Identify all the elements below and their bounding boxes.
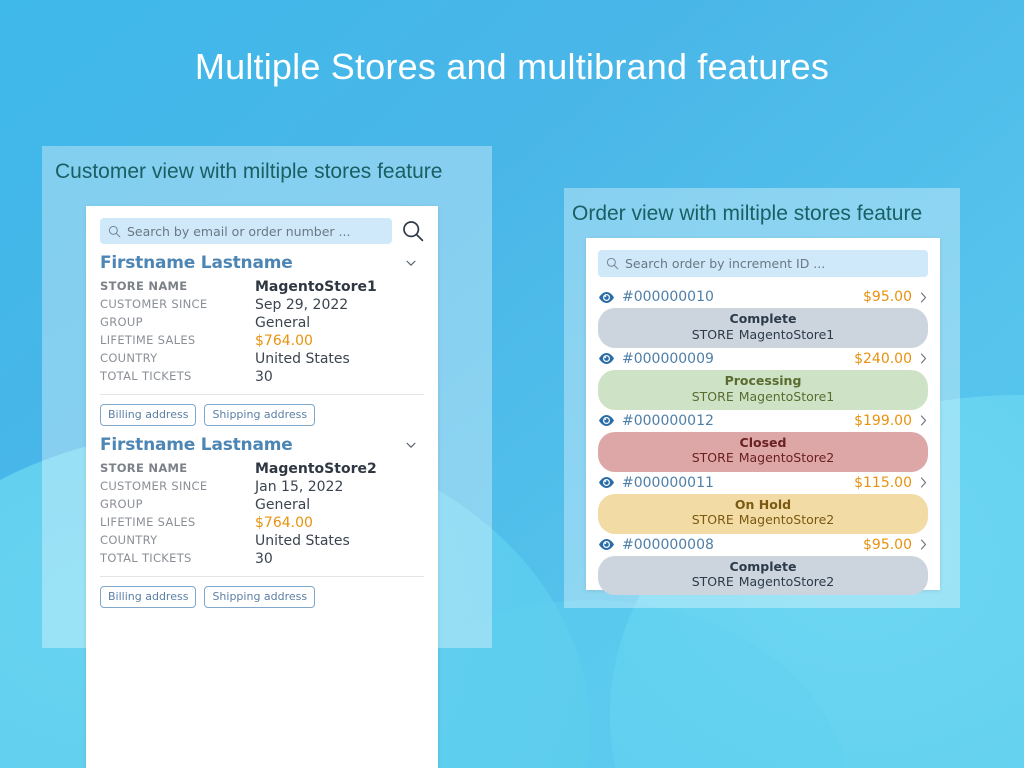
table-row: STORE NAME MagentoStore1 xyxy=(100,278,424,296)
customer-search-row: Search by email or order number ... xyxy=(100,218,424,244)
table-row: CUSTOMER SINCE Sep 29, 2022 xyxy=(100,296,424,314)
table-row: TOTAL TICKETS 30 xyxy=(100,550,424,568)
slide-canvas: Multiple Stores and multibrand features … xyxy=(0,0,1024,768)
divider xyxy=(100,576,424,577)
order-increment-id: #000000010 xyxy=(622,289,863,305)
order-item: #000000012 $199.00 Closed STOREMagentoSt… xyxy=(598,411,928,472)
order-item: #000000008 $95.00 Complete STOREMagentoS… xyxy=(598,535,928,596)
customer-details-table: STORE NAME MagentoStore1 CUSTOMER SINCE … xyxy=(100,278,424,386)
status-label: Complete xyxy=(598,311,928,327)
customer-name: Firstname Lastname xyxy=(100,253,293,273)
label-total-tickets: TOTAL TICKETS xyxy=(100,368,255,386)
label-total-tickets: TOTAL TICKETS xyxy=(100,550,255,568)
order-total: $95.00 xyxy=(863,289,912,305)
table-row: GROUP General xyxy=(100,314,424,332)
table-row: COUNTRY United States xyxy=(100,350,424,368)
status-label: Processing xyxy=(598,373,928,389)
label-country: COUNTRY xyxy=(100,532,255,550)
label-lifetime-sales: LIFETIME SALES xyxy=(100,332,255,350)
eye-icon[interactable] xyxy=(598,538,615,551)
order-item: #000000010 $95.00 Complete STOREMagentoS… xyxy=(598,287,928,348)
search-icon xyxy=(606,257,619,270)
search-icon xyxy=(108,225,121,238)
shipping-address-button[interactable]: Shipping address xyxy=(204,404,315,426)
status-label: Closed xyxy=(598,435,928,451)
table-row: GROUP General xyxy=(100,496,424,514)
order-increment-id: #000000011 xyxy=(622,475,854,491)
status-badge: Processing STOREMagentoStore1 xyxy=(598,370,928,410)
eye-icon[interactable] xyxy=(598,414,615,427)
status-store-line: STOREMagentoStore1 xyxy=(598,327,928,343)
label-store-name: STORE NAME xyxy=(100,278,255,296)
address-button-group: Billing address Shipping address xyxy=(100,586,424,608)
store-label: STORE xyxy=(692,450,734,465)
value-lifetime-sales: $764.00 xyxy=(255,332,424,350)
customer-panel-heading: Customer view with miltiple stores featu… xyxy=(42,146,492,184)
status-badge: Closed STOREMagentoStore2 xyxy=(598,432,928,472)
chevron-right-icon[interactable] xyxy=(919,291,928,304)
store-name: MagentoStore2 xyxy=(739,512,835,527)
store-label: STORE xyxy=(692,574,734,589)
order-search-placeholder: Search order by increment ID ... xyxy=(625,256,825,271)
order-panel-heading: Order view with miltiple stores feature xyxy=(564,188,960,226)
address-button-group: Billing address Shipping address xyxy=(100,404,424,426)
value-customer-since: Sep 29, 2022 xyxy=(255,296,424,314)
order-total: $199.00 xyxy=(854,413,912,429)
order-row[interactable]: #000000009 $240.00 xyxy=(598,349,928,370)
status-store-line: STOREMagentoStore2 xyxy=(598,450,928,466)
value-total-tickets: 30 xyxy=(255,368,424,386)
value-group: General xyxy=(255,496,424,514)
store-name: MagentoStore1 xyxy=(739,327,835,342)
customer-details-table: STORE NAME MagentoStore2 CUSTOMER SINCE … xyxy=(100,460,424,568)
value-country: United States xyxy=(255,532,424,550)
value-group: General xyxy=(255,314,424,332)
order-total: $95.00 xyxy=(863,537,912,553)
order-row[interactable]: #000000012 $199.00 xyxy=(598,411,928,432)
status-badge: On Hold STOREMagentoStore2 xyxy=(598,494,928,534)
value-customer-since: Jan 15, 2022 xyxy=(255,478,424,496)
divider xyxy=(100,394,424,395)
status-store-line: STOREMagentoStore2 xyxy=(598,512,928,528)
customer-header[interactable]: Firstname Lastname xyxy=(100,253,424,273)
customer-header[interactable]: Firstname Lastname xyxy=(100,435,424,455)
order-view-panel: Order view with miltiple stores feature … xyxy=(564,188,960,608)
customer-search-input[interactable]: Search by email or order number ... xyxy=(100,218,392,244)
table-row: CUSTOMER SINCE Jan 15, 2022 xyxy=(100,478,424,496)
store-label: STORE xyxy=(692,512,734,527)
billing-address-button[interactable]: Billing address xyxy=(100,404,196,426)
label-store-name: STORE NAME xyxy=(100,460,255,478)
chevron-down-icon[interactable] xyxy=(404,256,418,270)
status-store-line: STOREMagentoStore1 xyxy=(598,389,928,405)
label-customer-since: CUSTOMER SINCE xyxy=(100,478,255,496)
order-row[interactable]: #000000010 $95.00 xyxy=(598,287,928,308)
eye-icon[interactable] xyxy=(598,352,615,365)
chevron-right-icon[interactable] xyxy=(919,414,928,427)
table-row: STORE NAME MagentoStore2 xyxy=(100,460,424,478)
customer-card: Search by email or order number ... Firs… xyxy=(86,206,438,768)
table-row: TOTAL TICKETS 30 xyxy=(100,368,424,386)
order-row[interactable]: #000000008 $95.00 xyxy=(598,535,928,556)
chevron-right-icon[interactable] xyxy=(919,538,928,551)
status-label: On Hold xyxy=(598,497,928,513)
label-country: COUNTRY xyxy=(100,350,255,368)
order-item: #000000011 $115.00 On Hold STOREMagentoS… xyxy=(598,473,928,534)
order-search-input[interactable]: Search order by increment ID ... xyxy=(598,250,928,277)
label-group: GROUP xyxy=(100,496,255,514)
value-store-name: MagentoStore2 xyxy=(255,460,424,478)
table-row: LIFETIME SALES $764.00 xyxy=(100,332,424,350)
store-name: MagentoStore2 xyxy=(739,574,835,589)
chevron-right-icon[interactable] xyxy=(919,476,928,489)
order-item: #000000009 $240.00 Processing STOREMagen… xyxy=(598,349,928,410)
order-total: $240.00 xyxy=(854,351,912,367)
value-lifetime-sales: $764.00 xyxy=(255,514,424,532)
order-total: $115.00 xyxy=(854,475,912,491)
customer-name: Firstname Lastname xyxy=(100,435,293,455)
customer-block: Firstname Lastname STORE NAME MagentoSto… xyxy=(100,253,424,426)
status-badge: Complete STOREMagentoStore2 xyxy=(598,556,928,596)
customer-search-placeholder: Search by email or order number ... xyxy=(127,224,350,239)
shipping-address-button[interactable]: Shipping address xyxy=(204,586,315,608)
value-store-name: MagentoStore1 xyxy=(255,278,424,296)
table-row: LIFETIME SALES $764.00 xyxy=(100,514,424,532)
order-increment-id: #000000012 xyxy=(622,413,854,429)
order-list: #000000010 $95.00 Complete STOREMagentoS… xyxy=(598,287,928,595)
order-card: Search order by increment ID ... #000000… xyxy=(586,238,940,590)
order-increment-id: #000000008 xyxy=(622,537,863,553)
store-label: STORE xyxy=(692,389,734,404)
chevron-right-icon[interactable] xyxy=(919,352,928,365)
status-badge: Complete STOREMagentoStore1 xyxy=(598,308,928,348)
status-label: Complete xyxy=(598,559,928,575)
eye-icon[interactable] xyxy=(598,291,615,304)
label-group: GROUP xyxy=(100,314,255,332)
customer-view-panel: Customer view with miltiple stores featu… xyxy=(42,146,492,648)
label-customer-since: CUSTOMER SINCE xyxy=(100,296,255,314)
order-increment-id: #000000009 xyxy=(622,351,854,367)
page-title: Multiple Stores and multibrand features xyxy=(0,46,1024,88)
status-store-line: STOREMagentoStore2 xyxy=(598,574,928,590)
billing-address-button[interactable]: Billing address xyxy=(100,586,196,608)
label-lifetime-sales: LIFETIME SALES xyxy=(100,514,255,532)
chevron-down-icon[interactable] xyxy=(404,438,418,452)
search-icon[interactable] xyxy=(402,220,424,242)
eye-icon[interactable] xyxy=(598,476,615,489)
value-total-tickets: 30 xyxy=(255,550,424,568)
customer-block: Firstname Lastname STORE NAME MagentoSto… xyxy=(100,435,424,608)
order-row[interactable]: #000000011 $115.00 xyxy=(598,473,928,494)
value-country: United States xyxy=(255,350,424,368)
store-label: STORE xyxy=(692,327,734,342)
store-name: MagentoStore2 xyxy=(739,450,835,465)
store-name: MagentoStore1 xyxy=(739,389,835,404)
table-row: COUNTRY United States xyxy=(100,532,424,550)
